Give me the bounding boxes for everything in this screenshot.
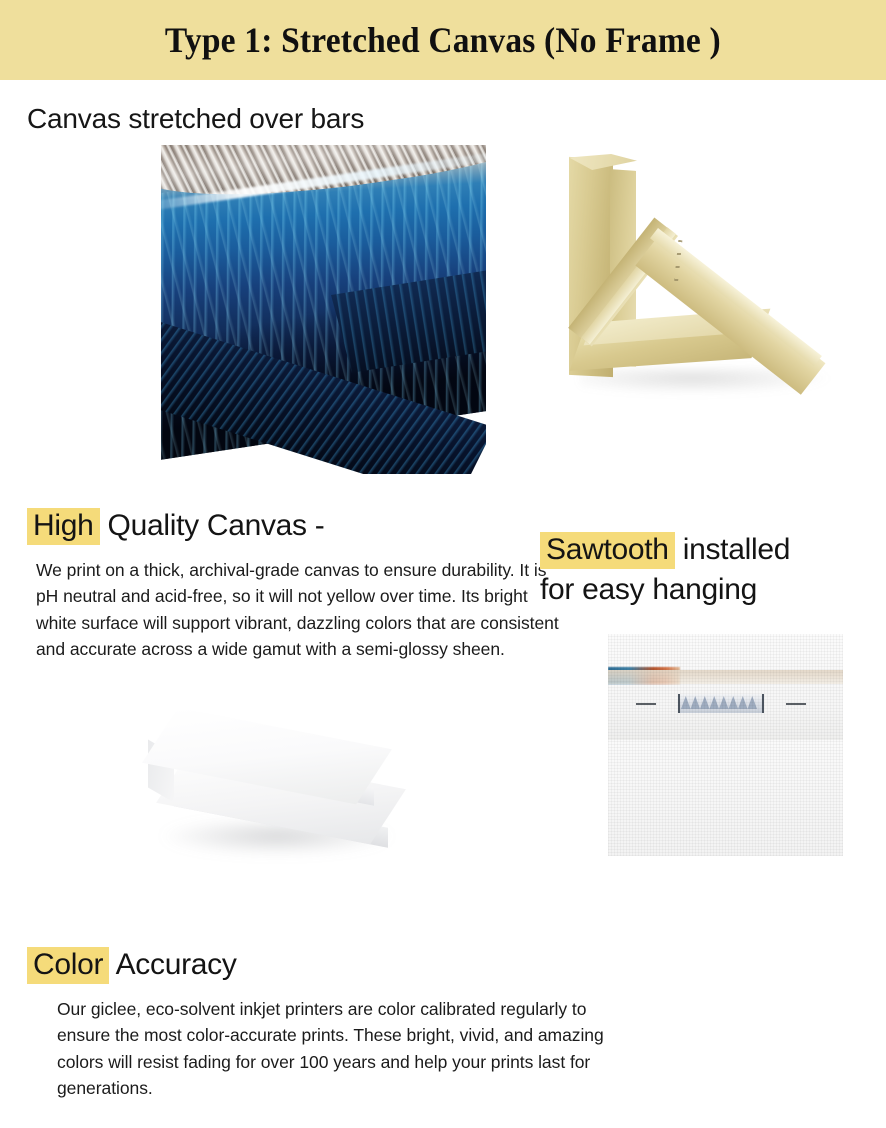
sawtooth-heading: Sawtooth installed for easy hanging [540, 530, 870, 609]
canvas-corner-scene [161, 145, 486, 474]
color-accuracy-heading-highlight: Color [27, 947, 109, 984]
subheading-canvas-stretched: Canvas stretched over bars [27, 103, 364, 135]
color-accuracy-heading-rest: Accuracy [109, 948, 236, 981]
stacked-canvases-image [140, 703, 430, 868]
high-quality-heading-rest: Quality Canvas - [100, 509, 325, 542]
header-banner: Type 1: Stretched Canvas (No Frame ) [0, 0, 886, 80]
page-title: Type 1: Stretched Canvas (No Frame ) [165, 19, 721, 61]
high-quality-heading-highlight: High [27, 508, 100, 545]
stretcher-bars-image [552, 150, 852, 428]
canvas-weave-texture [608, 634, 843, 856]
sawtooth-heading-highlight: Sawtooth [540, 532, 675, 569]
sawtooth-hanger-image [608, 634, 843, 856]
section-sawtooth: Sawtooth installed for easy hanging [540, 530, 870, 609]
color-accuracy-heading: Color Accuracy [27, 945, 627, 985]
high-quality-body-text: We print on a thick, archival-grade canv… [36, 557, 564, 663]
section-high-quality-canvas: High Quality Canvas - We print on a thic… [27, 506, 567, 663]
color-accuracy-body-text: Our giclee, eco-solvent inkjet printers … [57, 996, 627, 1102]
sawtooth-heading-line2: for easy hanging [540, 573, 757, 606]
section-color-accuracy: Color Accuracy Our giclee, eco-solvent i… [27, 945, 627, 1102]
canvas-corner-image [161, 145, 486, 474]
sawtooth-heading-rest: installed [675, 533, 790, 566]
high-quality-heading: High Quality Canvas - [27, 506, 567, 546]
